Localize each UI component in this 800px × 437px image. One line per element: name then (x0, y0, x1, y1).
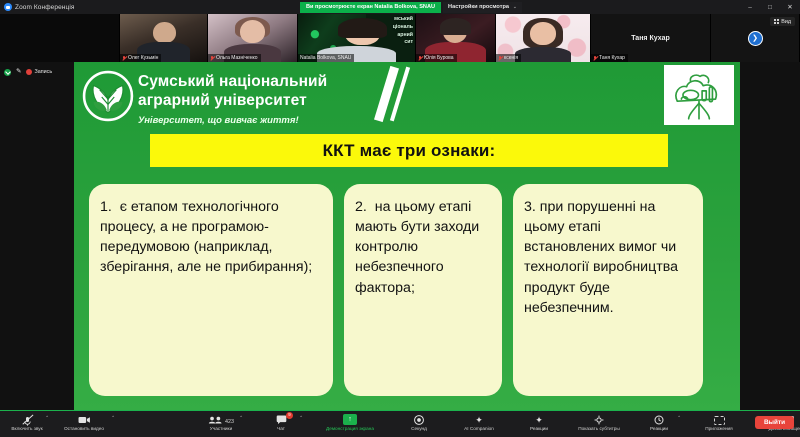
chevron-up-icon[interactable]: ⌃ (239, 415, 243, 421)
participants-count: 423 (225, 419, 234, 425)
maximize-button[interactable]: □ (760, 0, 780, 14)
content-box: 2. на цьому етапі мають бути заходи конт… (344, 184, 502, 396)
mute-button[interactable]: Включить звук ⌃ (4, 413, 50, 431)
slide-header: Сумський національний аграрний університ… (74, 62, 740, 130)
clock-icon (654, 413, 664, 425)
slide-title-banner: ККТ має три ознаки: (150, 134, 668, 167)
participant-name-label: Юлія Бурова (416, 54, 457, 62)
captions-label: Показать субтитры (578, 426, 620, 431)
content-box: 1. є етапом технологічного процесу, а не… (89, 184, 333, 396)
gear-icon (594, 413, 604, 425)
mic-off-icon (122, 56, 126, 61)
decorative-slash (364, 66, 424, 124)
window-controls: – □ ✕ (740, 0, 800, 14)
screen-share-mini-toolbar: ✎ Запись (0, 66, 52, 78)
slide-content-boxes: 1. є етапом технологічного процесу, а не… (89, 184, 725, 396)
grid-icon (774, 19, 779, 24)
participants-button[interactable]: 423 Участники ⌃ (198, 413, 244, 431)
window-title: Zoom Конференція (15, 4, 74, 11)
zoom-logo-icon (4, 3, 12, 11)
mic-off-icon (210, 56, 214, 61)
background-text: мськийціональарнийсит (393, 16, 413, 47)
apps-label: Приложения (705, 426, 732, 431)
chat-icon (276, 413, 287, 425)
video-tile[interactable]: Юлія Бурова (416, 14, 496, 62)
university-logo-icon (82, 70, 134, 122)
stop-video-button[interactable]: Остановить видео ⌃ (52, 413, 116, 431)
view-layout-button[interactable]: Вид (770, 17, 795, 26)
window-title-bar: Zoom Конференція Ви просмотрюєте екран N… (0, 0, 800, 14)
next-page-button[interactable]: ❯ (748, 31, 763, 46)
content-box-number: 2. (355, 199, 367, 215)
food-safety-badge-icon (664, 65, 734, 125)
university-name-line1: Сумський національний (138, 73, 327, 92)
stop-video-label: Остановить видео (64, 426, 104, 431)
slide-title: ККТ має три ознаки: (323, 141, 496, 161)
content-box-text: на цьому етапі мають бути заходи контрол… (355, 199, 479, 296)
content-box: 3. при порушенні на цьому етапі встановл… (513, 184, 703, 396)
zoom-meeting-window: Zoom Конференція Ви просмотрюєте екран N… (0, 0, 800, 437)
chevron-up-icon[interactable]: ⌃ (111, 415, 115, 421)
screen-share-banner: Ви просмотрюєте екран Natalia Bolkova, S… (300, 2, 441, 13)
record-label: Секунд (411, 426, 427, 431)
content-box-number: 3. (524, 199, 536, 215)
video-tile[interactable]: Ольга Мазніченко (208, 14, 298, 62)
record-button[interactable]: Секунд (396, 413, 442, 431)
sparkle-icon: ✦ (535, 413, 543, 425)
video-tile-no-video[interactable]: Таня Кухар Таня Кухар (591, 14, 711, 62)
screen-share-toolbar: Ви просмотрюєте екран Natalia Bolkova, S… (300, 2, 522, 13)
university-name-block: Сумський національний аграрний університ… (138, 73, 327, 126)
more-reactions-label: Реакции (650, 426, 668, 431)
mic-off-icon (22, 413, 33, 425)
video-tile[interactable]: Олег Кузьмін (120, 14, 208, 62)
apps-button[interactable]: Приложения (696, 413, 742, 431)
record-dot-icon (26, 69, 32, 75)
video-tile-active-speaker[interactable]: мськийціональарнийсит Natalia Bolkova, S… (298, 14, 416, 62)
video-tile[interactable]: ксенія (496, 14, 591, 62)
university-tagline: Університет, що вивчає життя! (138, 115, 327, 126)
ai-companion-label: AI Companion (464, 426, 494, 431)
view-layout-label: Вид (781, 19, 791, 25)
mic-off-icon (593, 56, 597, 61)
chat-unread-badge: 9 (286, 412, 293, 419)
check-circle-icon[interactable] (4, 69, 11, 76)
chevron-up-icon[interactable]: ⌃ (299, 415, 303, 421)
chevron-up-icon[interactable]: ⌃ (45, 415, 49, 421)
participants-icon: 423 (208, 413, 234, 425)
record-icon (414, 413, 424, 425)
ai-sparkle-icon: ✦ (475, 413, 483, 425)
chevron-down-icon: ⌄ (513, 4, 517, 10)
recording-indicator[interactable]: Запись (26, 69, 52, 75)
participant-name-label: Таня Кухар (591, 54, 628, 62)
ai-companion-button[interactable]: ✦ AI Companion (456, 413, 502, 431)
audio-video-controls: Включить звук ⌃ Остановить видео ⌃ (4, 413, 116, 431)
participant-name-label: ксенія (496, 54, 521, 62)
minimize-button[interactable]: – (740, 0, 760, 14)
share-screen-icon: ↑ (343, 413, 357, 425)
close-button[interactable]: ✕ (780, 0, 800, 14)
chat-label: Чат (277, 426, 285, 431)
participant-display-name: Таня Кухар (631, 35, 670, 42)
recording-label: Запись (34, 69, 52, 75)
share-screen-label: Демонстрация экрана (326, 426, 374, 431)
meeting-control-bar: Включить звук ⌃ Остановить видео ⌃ (0, 410, 800, 437)
university-name-line2: аграрний університет (138, 92, 327, 111)
video-strip-pager: ❯ Вид (711, 14, 800, 62)
chevron-up-icon[interactable]: ⌃ (677, 415, 681, 421)
annotate-pen-icon[interactable]: ✎ (16, 69, 21, 76)
chat-button[interactable]: 9 Чат ⌃ (258, 413, 304, 431)
video-tile-spacer (0, 14, 120, 62)
apps-icon (714, 413, 725, 425)
view-options-label: Настройки просмотра (448, 4, 509, 10)
content-box-number: 1. (100, 199, 112, 215)
participant-name-label: Ольга Мазніченко (208, 54, 261, 62)
meeting-feature-controls: 423 Участники ⌃ 9 Чат ⌃ ↑ Демонс (198, 413, 800, 431)
mic-off-icon (498, 56, 502, 61)
content-box-text: є етапом технологічного процесу, а не пр… (100, 199, 312, 275)
leave-meeting-area: Выйти (755, 416, 794, 429)
video-camera-icon (78, 413, 91, 425)
participants-label: Участники (210, 426, 232, 431)
participant-name-label: Олег Кузьмін (120, 54, 161, 62)
captions-button[interactable]: Показать субтитры (576, 413, 622, 431)
content-box-text: при порушенні на цьому етапі встановлени… (524, 199, 678, 316)
participant-name-label: Natalia Bolkova, SNAU (298, 54, 354, 62)
more-reactions-button[interactable]: Реакции ⌃ (636, 413, 682, 431)
participant-video-strip: Олег Кузьмін Ольга Мазніченко мськийціон… (0, 14, 800, 62)
reactions-button[interactable]: ✦ Реакции (516, 413, 562, 431)
reactions-label: Реакции (530, 426, 548, 431)
shared-slide: Сумський національний аграрний університ… (74, 62, 740, 410)
share-screen-button[interactable]: ↑ Демонстрация экрана (318, 413, 382, 431)
mic-off-icon (418, 56, 422, 61)
leave-button[interactable]: Выйти (755, 416, 794, 429)
view-options-button[interactable]: Настройки просмотра ⌄ (443, 2, 522, 13)
